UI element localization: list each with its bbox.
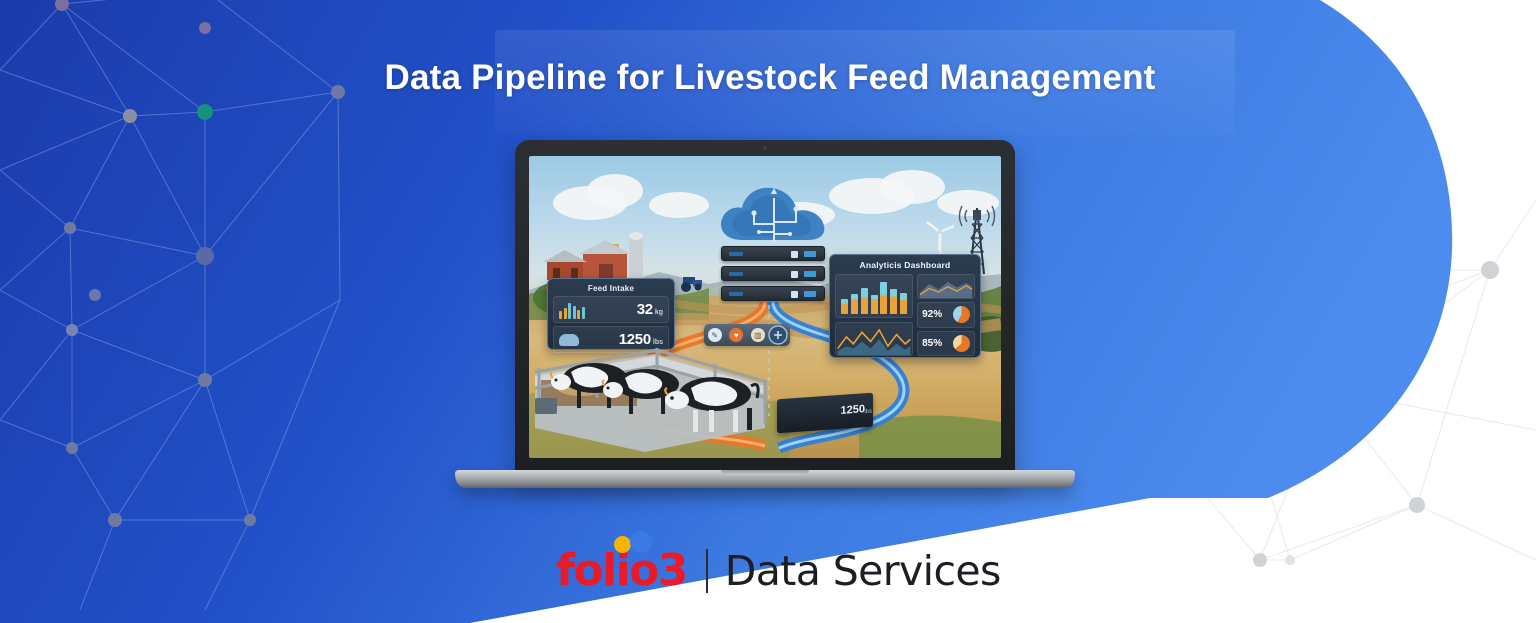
banner-stage: Data Pipeline for Livestock Feed Managem… [0,0,1536,623]
pie-chart-92 [953,306,970,323]
dashboard-right-column: 92% 85% [917,274,975,356]
feed-intake-header: Feed Intake [553,284,669,293]
analytics-dashboard-panel: Analyticis Dashboard [829,254,981,358]
logo-dot-blue [630,531,652,553]
tractor-icon [677,274,705,292]
logo-dot-yellow [614,536,631,553]
webcam-icon [763,146,767,150]
dashboard-stat-85: 85% [917,331,975,356]
folio3-wordmark: folio3 [556,549,687,593]
stat-92-value: 92% [922,309,942,320]
bars-icon: ▥ [751,328,765,342]
dashboard-body: 92% 85% [835,274,975,356]
mini-bar-chart [559,301,585,319]
cloud-shape [879,170,945,204]
cloud-shape [649,192,709,218]
dashboard-line-chart [835,322,913,356]
pie-chart-85 [953,335,970,352]
feed-intake-kg-value: 32 [637,301,653,318]
laptop-lid: Feed Intake 32 [515,140,1015,480]
cloud-data-icon [714,178,834,252]
dashboard-stat-92: 92% [917,302,975,327]
dashboard-bar-chart [835,274,913,318]
laptop-notch [721,470,809,475]
brand-logo[interactable]: folio3 Data Services [556,543,1001,599]
analytics-dashboard-header: Analyticis Dashboard [835,260,975,270]
laptop-base [455,470,1075,488]
feed-intake-kg-unit: kg [655,309,663,316]
dashboard-left-column [835,274,913,356]
laptop-mockup: Feed Intake 32 [455,140,1075,500]
feed-intake-row-kg: 32 kg [553,296,669,323]
cloud-shape [587,174,643,208]
scale-value: 1250 [841,403,865,417]
weighing-scale: 1250 lbs [777,393,873,434]
dashboard-area-chart [917,274,975,299]
illustration: Feed Intake 32 [529,156,1001,458]
scale-unit: lbs [864,409,872,416]
syringe-icon: ✎ [708,328,722,342]
server-stack [721,246,825,304]
logo-divider [706,549,708,593]
dairy-cows [547,342,797,452]
tag-icon [767,324,789,346]
stat-85-value: 85% [922,338,942,349]
heart-icon: ♥ [729,328,743,342]
data-services-text: Data Services [725,551,1001,592]
laptop-screen: Feed Intake 32 [529,156,1001,458]
page-title: Data Pipeline for Livestock Feed Managem… [0,58,1536,98]
